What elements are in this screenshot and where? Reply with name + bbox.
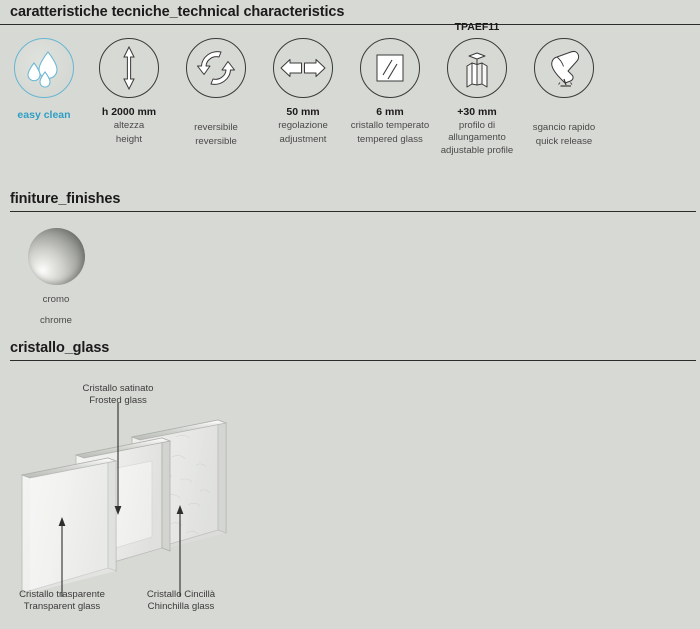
section-divider-technical — [0, 24, 700, 25]
feature-caption-it-adjustment: regolazione — [259, 120, 347, 132]
feature-caption-it-quick-release: sgancio rapido — [520, 122, 608, 134]
feature-caption-it-tempered-glass: cristallo temperato — [346, 120, 434, 132]
glass-label-transparent-it: Cristallo trasparente — [2, 589, 122, 601]
glass-label-transparent: Cristallo trasparente Transparent glass — [2, 589, 122, 612]
feature-value-tempered-glass: 6 mm — [346, 106, 434, 118]
feature-value-adjustment: 50 mm — [259, 106, 347, 118]
glass-label-chinchilla-en: Chinchilla glass — [126, 601, 236, 613]
feature-caption-en-height: height — [85, 134, 173, 146]
feature-caption-en-reversible: reversible — [172, 136, 260, 148]
extension-profile-icon — [447, 38, 507, 98]
spec-sheet-page: caratteristiche tecniche_technical chara… — [0, 0, 700, 629]
section-title-glass: cristallo_glass — [0, 340, 700, 356]
section-header-finishes: finiture_finishes — [0, 191, 700, 212]
horizontal-arrows-icon — [273, 38, 333, 98]
feature-extension-profile: TPAEF11 +30 mm profilo di allungamento a… — [433, 38, 521, 157]
feature-quick-release: sgancio rapido quick release — [520, 38, 608, 147]
feature-reversible: reversibile reversible — [172, 38, 260, 147]
feature-easy-clean: easy clean — [0, 38, 88, 122]
feature-value-height: h 2000 mm — [85, 106, 173, 118]
feature-height: h 2000 mm altezza height — [85, 38, 173, 145]
glass-label-frosted-it: Cristallo satinato — [58, 383, 178, 395]
feature-label-easy-clean: easy clean — [0, 110, 88, 122]
glass-label-frosted-en: Frosted glass — [58, 395, 178, 407]
section-title-technical: caratteristiche tecniche_technical chara… — [0, 4, 700, 20]
feature-caption-en-adjustment: adjustment — [259, 134, 347, 146]
glass-exploded-view: Cristallo satinato Frosted glass Cristal… — [0, 365, 700, 629]
feature-adjustment: 50 mm regolazione adjustment — [259, 38, 347, 145]
reversible-arrows-icon — [186, 38, 246, 98]
water-drops-icon — [14, 38, 74, 98]
feature-caption-it-reversible: reversibile — [172, 122, 260, 134]
section-title-finishes: finiture_finishes — [0, 191, 700, 207]
section-divider-glass — [10, 360, 696, 361]
section-header-glass: cristallo_glass — [0, 340, 700, 361]
glass-label-frosted: Cristallo satinato Frosted glass — [58, 383, 178, 406]
finish-chrome: cromo chrome — [11, 228, 101, 326]
feature-value-extension-profile: +30 mm — [433, 106, 521, 118]
finish-caption-en-chrome: chrome — [11, 315, 101, 327]
feature-caption-en-tempered-glass: tempered glass — [346, 134, 434, 146]
chrome-sphere-swatch — [28, 228, 85, 285]
vertical-arrow-icon — [99, 38, 159, 98]
glass-label-transparent-en: Transparent glass — [2, 601, 122, 613]
feature-tempered-glass: 6 mm cristallo temperato tempered glass — [346, 38, 434, 145]
feature-caption-en-extension-profile: adjustable profile — [433, 145, 521, 157]
finish-caption-it-chrome: cromo — [11, 294, 101, 306]
feature-icon-strip: easy clean h 2000 mm altezza height reve… — [0, 38, 700, 163]
glass-label-chinchilla: Cristallo Cincillà Chinchilla glass — [126, 589, 236, 612]
glass-label-chinchilla-it: Cristallo Cincillà — [126, 589, 236, 601]
feature-caption-en-quick-release: quick release — [520, 136, 608, 148]
glass-panel-transparent — [22, 458, 116, 593]
feature-caption-it-height: altezza — [85, 120, 173, 132]
tempered-glass-icon — [360, 38, 420, 98]
section-header-technical: caratteristiche tecniche_technical chara… — [0, 4, 700, 25]
feature-code-extension-profile: TPAEF11 — [433, 21, 521, 33]
feature-caption-it-extension-profile: profilo di allungamento — [433, 120, 521, 143]
hand-quick-release-icon — [534, 38, 594, 98]
section-divider-finishes — [10, 211, 696, 212]
